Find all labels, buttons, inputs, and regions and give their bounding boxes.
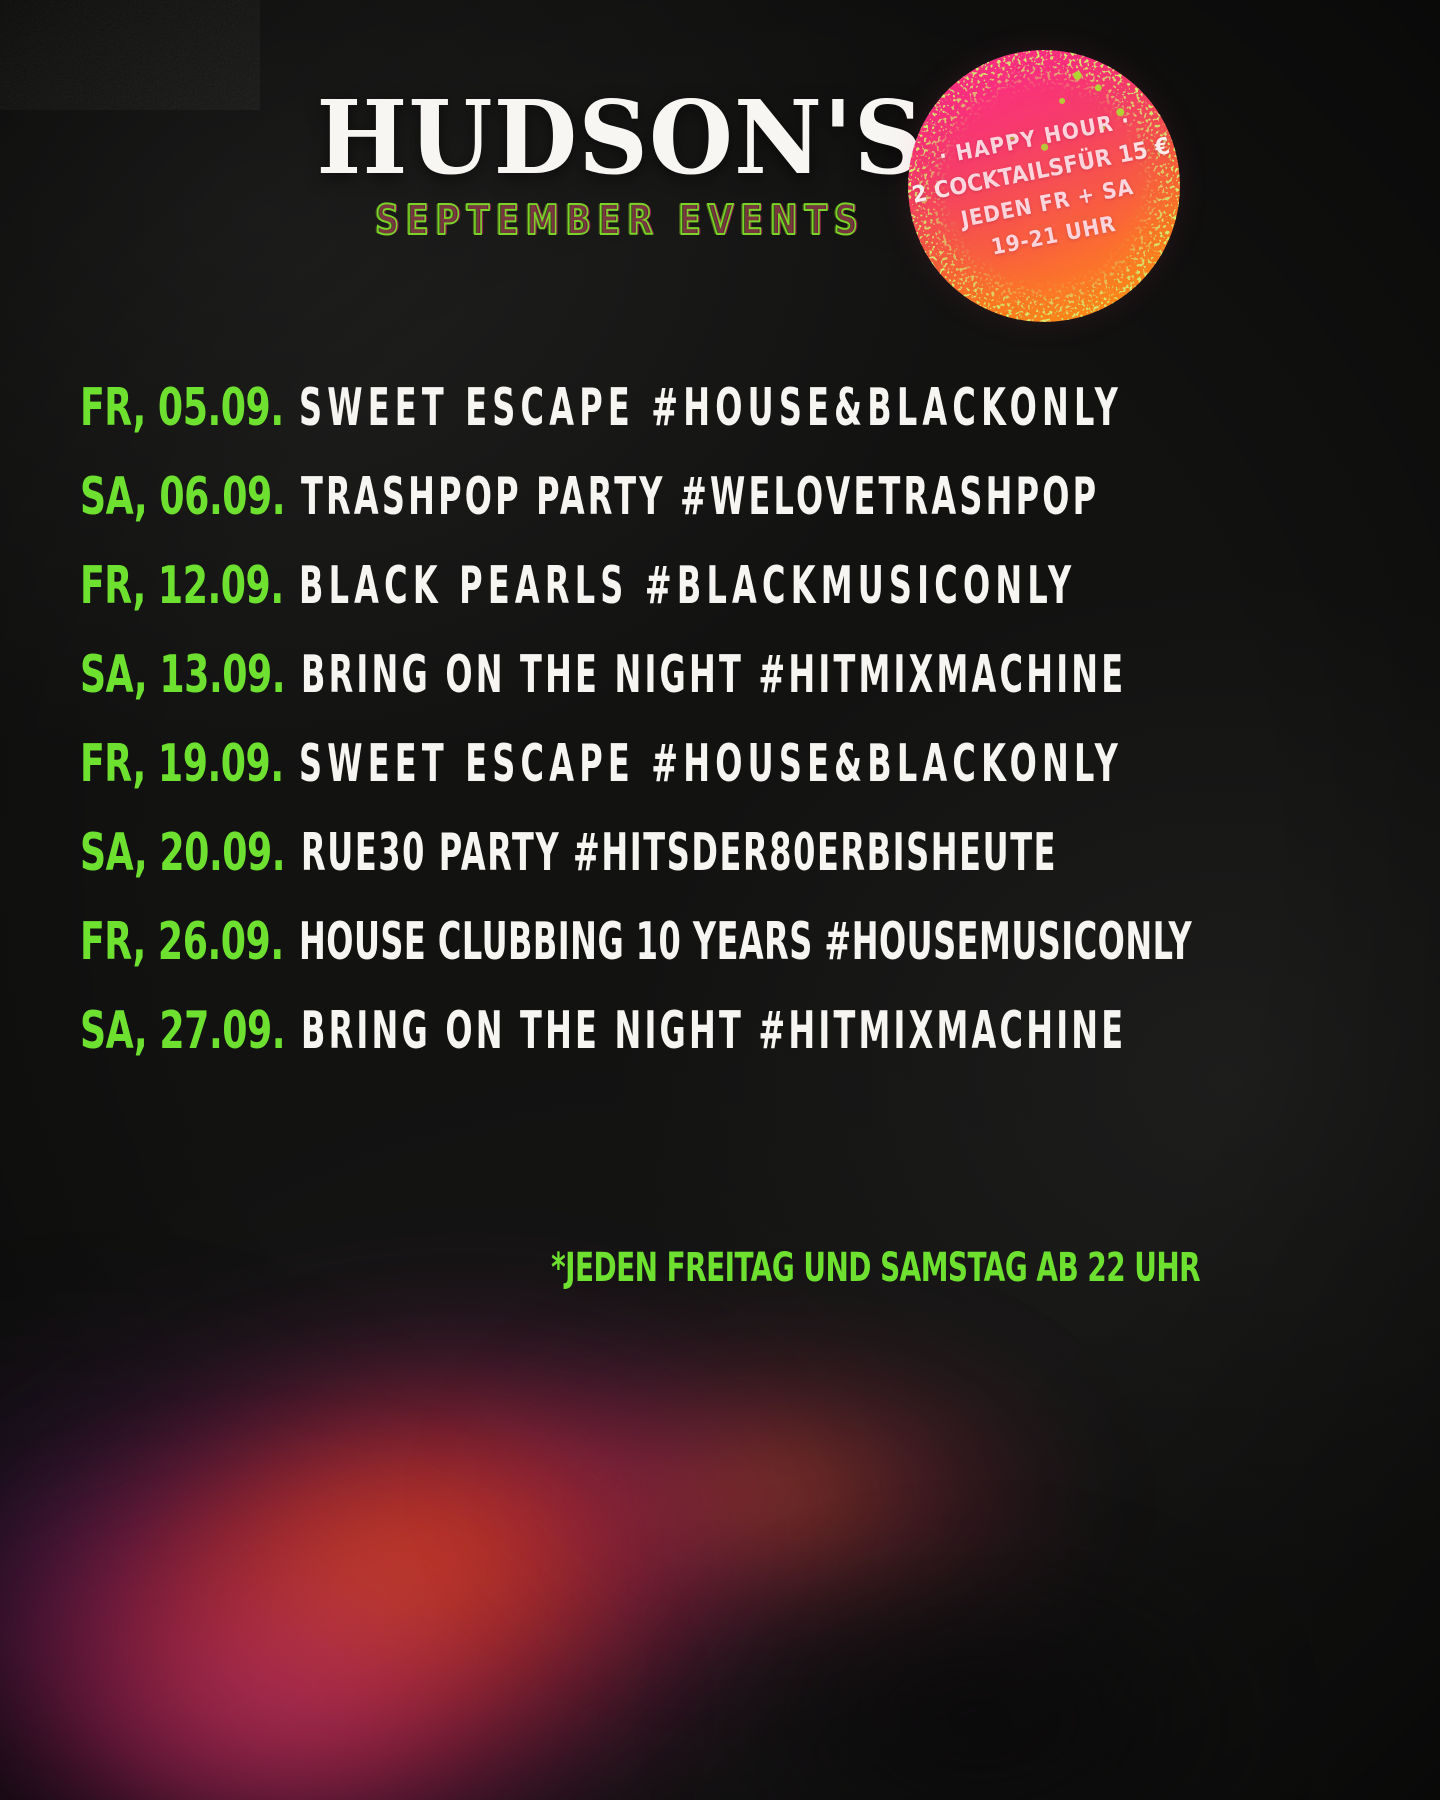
poster-subtitle: SEPTEMBER EVENTS [375, 195, 865, 244]
event-date: FR, 26.09. [80, 913, 284, 972]
badge-halo [896, 38, 1192, 334]
event-date: FR, 19.09. [80, 735, 284, 794]
event-row: FR, 26.09. HOUSE CLUBBING 10 YEARS #HOUS… [80, 919, 1200, 1008]
event-list: FR, 05.09. SWEET ESCAPE #HOUSE&BLACKONLY… [80, 385, 1200, 1097]
event-date: FR, 05.09. [80, 379, 284, 438]
event-title: SWEET ESCAPE #HOUSE&BLACKONLY [299, 378, 1123, 438]
event-date: FR, 12.09. [80, 557, 284, 616]
event-row: FR, 19.09. SWEET ESCAPE #HOUSE&BLACKONLY [80, 741, 1200, 830]
event-row: FR, 12.09. BLACK PEARLS #BLACKMUSICONLY [80, 563, 1200, 652]
event-title: SWEET ESCAPE #HOUSE&BLACKONLY [299, 734, 1123, 794]
event-row: SA, 13.09. BRING ON THE NIGHT #HITMIXMAC… [80, 652, 1200, 741]
event-date: SA, 13.09. [80, 646, 285, 705]
event-row: SA, 06.09. TRASHPOP PARTY #WELOVETRASHPO… [80, 474, 1200, 563]
event-title: BRING ON THE NIGHT #HITMIXMACHINE [301, 645, 1126, 705]
event-poster: HUDSON'S SEPTEMBER EVENTS [0, 0, 1440, 1800]
event-title: BLACK PEARLS #BLACKMUSICONLY [299, 556, 1076, 616]
event-row: FR, 05.09. SWEET ESCAPE #HOUSE&BLACKONLY [80, 385, 1200, 474]
event-title: TRASHPOP PARTY #WELOVETRASHPOP [301, 467, 1099, 527]
event-row: SA, 27.09. BRING ON THE NIGHT #HITMIXMAC… [80, 1008, 1200, 1097]
event-date: SA, 20.09. [80, 824, 285, 883]
footnote-text: *JEDEN FREITAG UND SAMSTAG AB 22 UHR [551, 1245, 1200, 1292]
event-date: SA, 06.09. [80, 468, 285, 527]
event-title: RUE30 PARTY #HITSDER80ERBISHEUTE [301, 823, 1057, 883]
event-row: SA, 20.09. RUE30 PARTY #HITSDER80ERBISHE… [80, 830, 1200, 919]
brand-title: HUDSON'S [316, 88, 924, 189]
footnote: *JEDEN FREITAG UND SAMSTAG AB 22 UHR [80, 1250, 1200, 1286]
event-date: SA, 27.09. [80, 1002, 285, 1061]
event-title: HOUSE CLUBBING 10 YEARS #HOUSEMUSICONLY [299, 912, 1192, 972]
event-title: BRING ON THE NIGHT #HITMIXMACHINE [301, 1001, 1126, 1061]
